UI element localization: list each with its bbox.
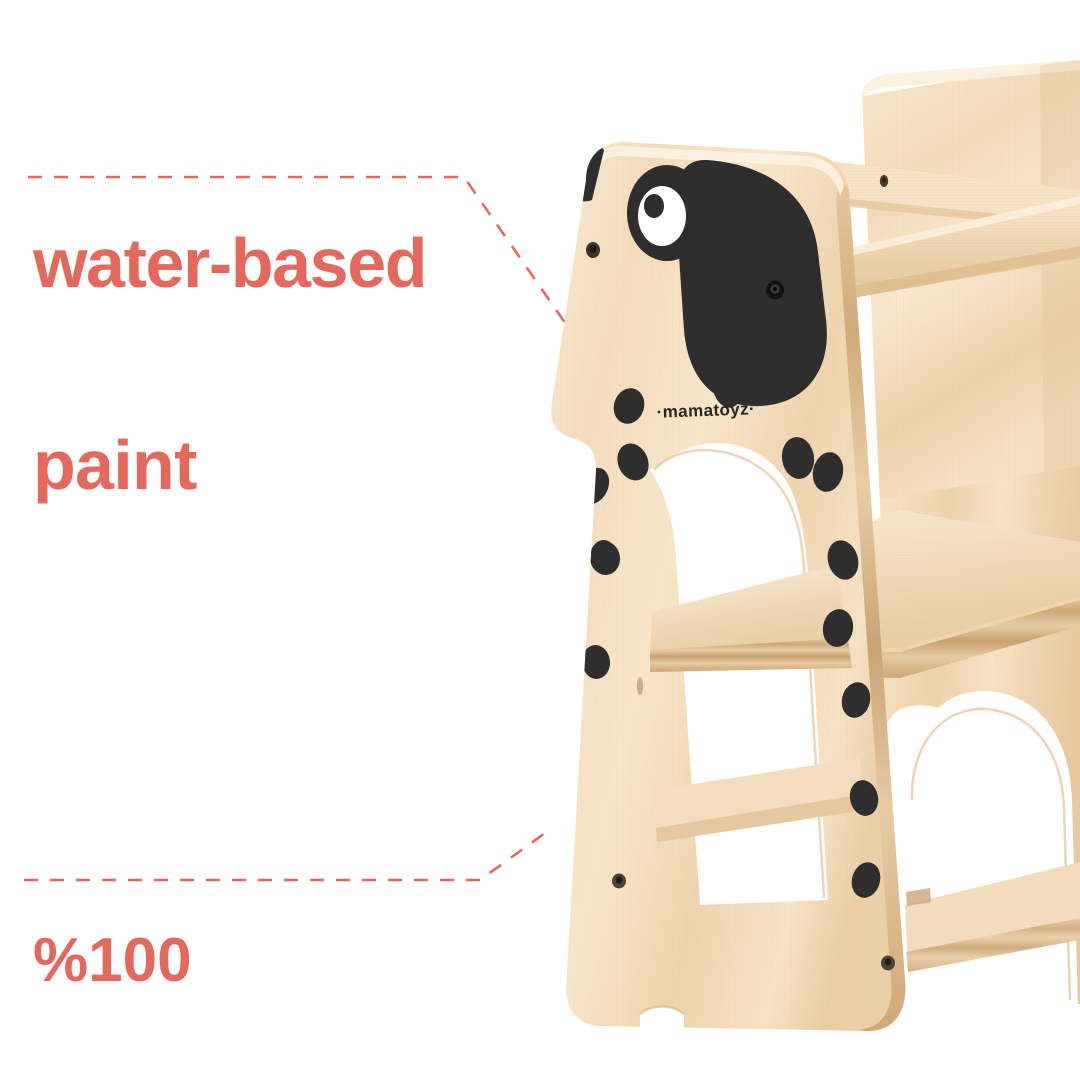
svg-text:·mamatoyz·: ·mamatoyz·	[656, 399, 755, 421]
brand-logo: ·mamatoyz·	[656, 399, 755, 421]
leg-foot	[640, 1007, 684, 1035]
callout-paint-line-2: paint	[33, 432, 426, 499]
callout-water-based-paint: water-based paint	[33, 96, 426, 634]
callout-paint-line-1: water-based	[33, 230, 426, 297]
callout-wood-line-1: %100	[33, 931, 411, 991]
product-marketing-graphic: ·mamatoyz· water-based paint %100 natura…	[0, 0, 1080, 1080]
callout-natural-wood: %100 natural wood	[33, 812, 411, 1080]
